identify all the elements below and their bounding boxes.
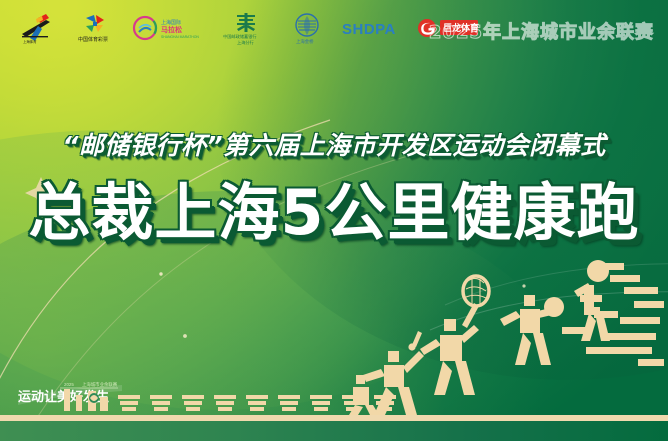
svg-text:上海金桥: 上海金桥 xyxy=(296,38,314,45)
svg-text:SHANGHAI MARATHON: SHANGHAI MARATHON xyxy=(161,35,199,39)
event-series-tag: 2025年上海城市业余联赛 xyxy=(429,18,654,44)
svg-text:2025: 2025 xyxy=(64,382,74,387)
svg-text:马拉松: 马拉松 xyxy=(161,25,182,34)
svg-text:上海城市业余联赛: 上海城市业余联赛 xyxy=(82,381,118,388)
logo-shdpa: SHDPA xyxy=(340,9,402,49)
svg-text:SHDPA: SHDPA xyxy=(342,21,396,38)
svg-text:上海体育: 上海体育 xyxy=(23,39,37,44)
sponsor-logo-bar: 上海体育 中国体育彩票 xyxy=(0,0,668,58)
svg-text:中国体育彩票: 中国体育彩票 xyxy=(78,36,108,43)
logo-shanghai-marathon: 上海国际 马拉松 SHANGHAI MARATHON xyxy=(130,9,204,49)
athlete-silhouettes xyxy=(348,255,668,415)
svg-text:上海国际: 上海国际 xyxy=(161,19,181,26)
poster-main-title: 总裁上海5公里健康跑 xyxy=(0,182,668,244)
slogan-logo: 运动让美好发生 2025 上海城市业余联赛 xyxy=(16,377,126,407)
sponsor-logos: 上海体育 中国体育彩票 xyxy=(0,9,480,49)
logo-shanghai-jinqiao: 上海金桥 xyxy=(288,9,326,49)
svg-text:中国邮政储蓄银行: 中国邮政储蓄银行 xyxy=(223,33,257,40)
lower-band xyxy=(0,421,668,441)
logo-china-sports-lottery: 中国体育彩票 xyxy=(74,9,116,49)
slogan-text: 运动让美好发生 xyxy=(18,389,109,404)
logo-china-post-bank: 中国邮政储蓄银行 上海分行 xyxy=(218,9,274,49)
logo-shanghai-sports-logo: 上海体育 xyxy=(16,9,60,49)
poster-subtitle: “邮储银行杯”第六届上海市开发区运动会闭幕式 xyxy=(0,126,668,162)
poster-canvas: 上海体育 中国体育彩票 xyxy=(0,0,668,441)
svg-text:上海分行: 上海分行 xyxy=(237,39,254,46)
